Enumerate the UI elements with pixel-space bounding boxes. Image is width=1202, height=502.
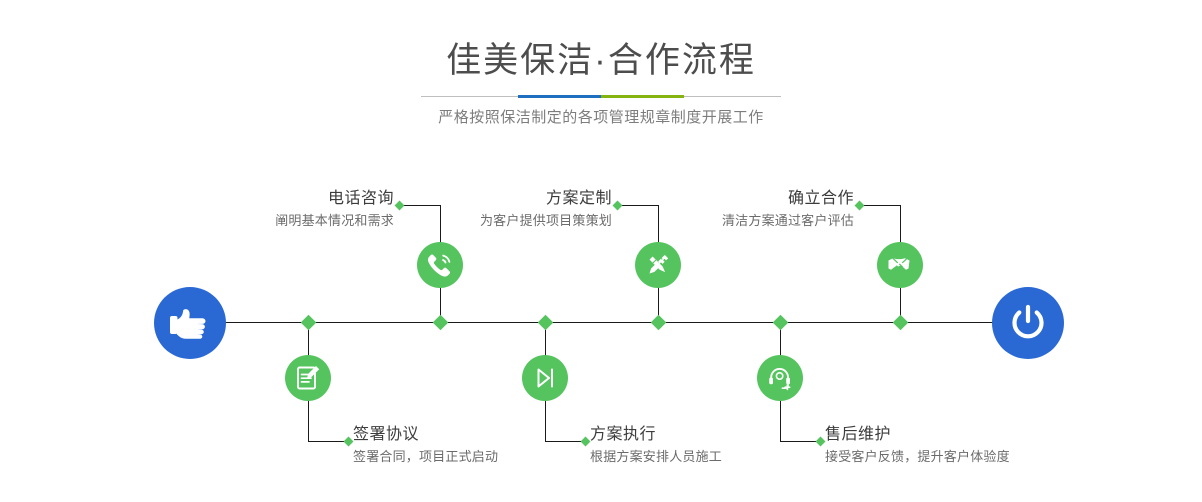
handshake-icon <box>886 251 914 279</box>
connector-tip-5 <box>855 201 865 211</box>
play-skip-icon <box>532 365 558 391</box>
power-icon <box>1007 302 1049 344</box>
cooperation-flow-infographic: 佳美保洁·合作流程 严格按照保洁制定的各项管理规章制度开展工作 <box>0 0 1202 502</box>
step-title-6: 售后维护 <box>825 424 1085 446</box>
connector-tip-2 <box>344 437 354 447</box>
connector-1 <box>399 205 441 206</box>
step-title-5: 确立合作 <box>650 188 854 210</box>
pencil-ruler-icon <box>644 251 672 279</box>
hand-point-right-icon <box>170 306 210 340</box>
step-node-1[interactable] <box>417 242 463 288</box>
step-node-6[interactable] <box>757 355 803 401</box>
timeline-end-endpoint <box>992 287 1064 359</box>
step-label-2: 签署协议 签署合同，项目正式启动 <box>353 424 583 468</box>
timeline-marker-1 <box>433 315 449 331</box>
divider-segment-blue <box>518 95 601 98</box>
document-edit-icon <box>294 364 322 392</box>
step-desc-6: 接受客户反馈，提升客户体验度 <box>825 446 1085 468</box>
step-title-3: 方案定制 <box>408 188 612 210</box>
step-node-5[interactable] <box>877 242 923 288</box>
title-divider <box>421 95 781 98</box>
phone-call-icon <box>426 251 454 279</box>
timeline-marker-3 <box>651 315 667 331</box>
step-desc-5: 清洁方案通过客户评估 <box>650 210 854 232</box>
timeline-start-endpoint <box>154 287 226 359</box>
connector-tip-1 <box>395 201 405 211</box>
divider-rule-left <box>421 96 518 97</box>
step-label-1: 电话咨询 阐明基本情况和需求 <box>190 188 394 232</box>
connector-tip-3 <box>613 201 623 211</box>
divider-rule-right <box>684 96 781 97</box>
step-desc-3: 为客户提供项目策策划 <box>408 210 612 232</box>
page-title: 佳美保洁·合作流程 <box>0 38 1202 84</box>
step-desc-1: 阐明基本情况和需求 <box>190 210 394 232</box>
connector-5 <box>859 205 901 206</box>
divider-segment-green <box>601 95 684 98</box>
timeline-marker-5 <box>893 315 909 331</box>
step-title-1: 电话咨询 <box>190 188 394 210</box>
step-node-4[interactable] <box>522 355 568 401</box>
step-label-6: 售后维护 接受客户反馈，提升客户体验度 <box>825 424 1085 468</box>
step-desc-4: 根据方案安排人员施工 <box>590 446 820 468</box>
timeline-marker-2 <box>301 315 317 331</box>
page-subtitle: 严格按照保洁制定的各项管理规章制度开展工作 <box>0 106 1202 130</box>
step-label-3: 方案定制 为客户提供项目策策划 <box>408 188 612 232</box>
headset-support-icon <box>766 364 794 392</box>
step-title-4: 方案执行 <box>590 424 820 446</box>
connector-3 <box>617 205 659 206</box>
step-label-4: 方案执行 根据方案安排人员施工 <box>590 424 820 468</box>
timeline-axis <box>160 322 1042 323</box>
step-title-2: 签署协议 <box>353 424 583 446</box>
step-node-2[interactable] <box>285 355 331 401</box>
timeline-marker-6 <box>773 315 789 331</box>
step-node-3[interactable] <box>635 242 681 288</box>
timeline-marker-4 <box>538 315 554 331</box>
step-label-5: 确立合作 清洁方案通过客户评估 <box>650 188 854 232</box>
step-desc-2: 签署合同，项目正式启动 <box>353 446 583 468</box>
